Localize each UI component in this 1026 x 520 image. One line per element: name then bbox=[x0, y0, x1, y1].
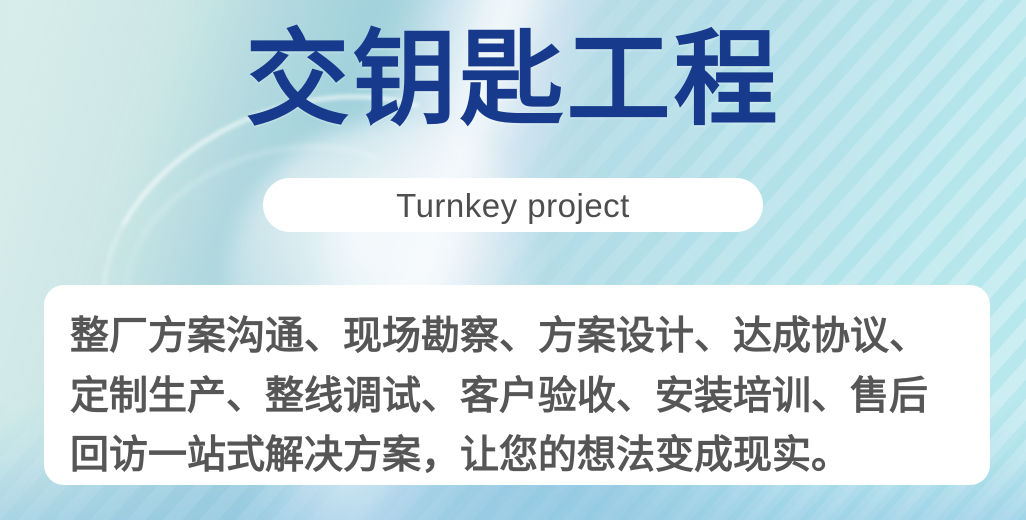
description-card: 整厂方案沟通、现场勘察、方案设计、达成协议、 定制生产、整线调试、客户验收、安装… bbox=[44, 285, 990, 485]
turnkey-project-banner: 交钥匙工程 Turnkey project 整厂方案沟通、现场勘察、方案设计、达… bbox=[0, 0, 1026, 520]
description-line-3: 回访一站式解决方案，让您的想法变成现实。 bbox=[70, 426, 964, 486]
banner-content: 交钥匙工程 Turnkey project 整厂方案沟通、现场勘察、方案设计、达… bbox=[0, 0, 1026, 520]
description-line-2: 定制生产、整线调试、客户验收、安装培训、售后 bbox=[70, 367, 964, 427]
subtitle-container: Turnkey project bbox=[0, 178, 1026, 232]
description-line-1: 整厂方案沟通、现场勘察、方案设计、达成协议、 bbox=[70, 307, 964, 367]
subtitle-pill: Turnkey project bbox=[263, 178, 763, 232]
subtitle-text: Turnkey project bbox=[396, 189, 630, 222]
page-title: 交钥匙工程 bbox=[0, 16, 1026, 143]
